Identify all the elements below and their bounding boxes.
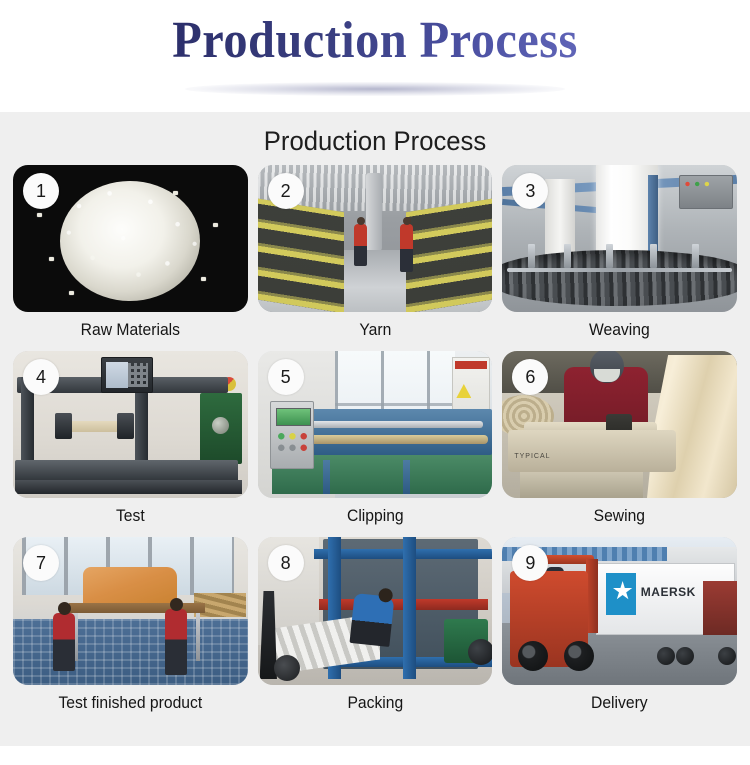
machine-brand-label: TYPICAL bbox=[514, 453, 550, 460]
machine-roller bbox=[295, 435, 487, 444]
loom-post bbox=[648, 175, 658, 255]
step-number-badge: 4 bbox=[23, 359, 59, 395]
forklift-mast bbox=[586, 559, 598, 633]
process-step-card[interactable]: 1 Raw Materials bbox=[13, 165, 248, 342]
test-clamp bbox=[55, 413, 72, 439]
step-image-delivery[interactable]: MAERSK 9 bbox=[502, 537, 737, 685]
section-heading: Production Process bbox=[19, 112, 732, 165]
loom-shuttle bbox=[606, 244, 613, 268]
test-clamp bbox=[117, 413, 134, 439]
blue-grid-floor bbox=[13, 619, 248, 685]
step-image-raw-materials[interactable]: 1 bbox=[13, 165, 248, 312]
step-image-sewing[interactable]: TYPICAL 6 bbox=[502, 351, 737, 498]
process-step-card[interactable]: 7 Test finished product bbox=[13, 537, 248, 715]
truck-wheel bbox=[676, 647, 694, 665]
machine-roller bbox=[291, 421, 483, 428]
step-caption: Clipping bbox=[264, 498, 487, 528]
control-display bbox=[101, 357, 153, 393]
green-machine bbox=[200, 393, 242, 464]
fabric-specimen bbox=[69, 421, 121, 432]
worker-figure bbox=[400, 224, 413, 272]
machine-base bbox=[15, 460, 238, 482]
stray-pellet bbox=[69, 291, 74, 295]
loom-shuttle bbox=[528, 244, 535, 268]
step-image-test[interactable]: 4 bbox=[13, 351, 248, 498]
machine-leg bbox=[403, 460, 410, 494]
step-image-clipping[interactable]: 5 bbox=[258, 351, 493, 498]
page-title: Production Process bbox=[172, 12, 578, 69]
loom-rail bbox=[507, 268, 732, 272]
hero-banner: Production Process bbox=[0, 0, 750, 112]
hand-truck-wheel bbox=[274, 655, 300, 681]
machine-leg bbox=[323, 460, 330, 494]
step-number-badge: 1 bbox=[23, 173, 59, 209]
step-number-badge: 8 bbox=[268, 545, 304, 581]
step-caption: Weaving bbox=[508, 312, 731, 342]
step-image-weaving[interactable]: 3 bbox=[502, 165, 737, 312]
step-caption: Test finished product bbox=[19, 685, 242, 715]
step-image-yarn[interactable]: 2 bbox=[258, 165, 493, 312]
step-caption: Test bbox=[19, 498, 242, 528]
machine-stand bbox=[520, 470, 643, 498]
ceiling-duct bbox=[366, 173, 382, 251]
stray-pellet bbox=[49, 257, 54, 261]
machine-control-panel bbox=[270, 401, 314, 469]
process-step-card[interactable]: MAERSK 9 Delivery bbox=[502, 537, 737, 715]
loom-shuttle bbox=[564, 244, 571, 268]
step-number-badge: 7 bbox=[23, 545, 59, 581]
table-leg bbox=[196, 613, 200, 661]
loom-control-panel bbox=[679, 175, 733, 209]
step-caption: Delivery bbox=[508, 685, 731, 715]
process-step-card[interactable]: 4 Test bbox=[13, 351, 248, 528]
process-step-card[interactable]: 2 Yarn bbox=[258, 165, 493, 342]
yarn-rack-left bbox=[258, 198, 344, 312]
worker-figure bbox=[53, 613, 75, 671]
hydraulic-motor bbox=[444, 619, 488, 663]
title-reflection-shadow bbox=[185, 82, 565, 96]
process-steps-grid: 1 Raw Materials 2 Yarn bbox=[0, 165, 750, 715]
loom-shuttle bbox=[692, 244, 699, 268]
stray-pellet bbox=[201, 277, 206, 281]
step-caption: Packing bbox=[264, 685, 487, 715]
step-caption: Sewing bbox=[508, 498, 731, 528]
stray-pellet bbox=[173, 191, 178, 195]
loom-shuttle bbox=[650, 244, 657, 268]
process-step-card[interactable]: 3 Weaving bbox=[502, 165, 737, 342]
truck-cab bbox=[703, 581, 737, 635]
step-image-packing[interactable]: 8 bbox=[258, 537, 493, 685]
process-step-card[interactable]: TYPICAL 6 Sewing bbox=[502, 351, 737, 528]
worker-figure bbox=[349, 593, 394, 647]
yarn-rack-right bbox=[406, 198, 492, 312]
step-number-badge: 5 bbox=[268, 359, 304, 395]
process-step-card[interactable]: 5 Clipping bbox=[258, 351, 493, 528]
sewing-machine-body bbox=[508, 430, 676, 472]
production-process-panel: Production Process 1 Raw Materials bbox=[0, 112, 750, 746]
process-step-card[interactable]: 8 Packing bbox=[258, 537, 493, 715]
step-caption: Raw Materials bbox=[19, 312, 242, 342]
circular-loom-ring bbox=[502, 250, 737, 306]
machine-base bbox=[15, 480, 242, 494]
stray-pellet bbox=[37, 213, 42, 217]
step-image-test-finished-product[interactable]: 7 bbox=[13, 537, 248, 685]
worker-figure bbox=[354, 224, 367, 266]
press-column bbox=[403, 537, 416, 679]
clipping-machine-body bbox=[300, 409, 492, 455]
step-number-badge: 2 bbox=[268, 173, 304, 209]
step-caption: Yarn bbox=[264, 312, 487, 342]
worker-figure bbox=[165, 609, 187, 675]
maersk-wordmark: MAERSK bbox=[641, 585, 696, 599]
stray-pellet bbox=[213, 223, 218, 227]
